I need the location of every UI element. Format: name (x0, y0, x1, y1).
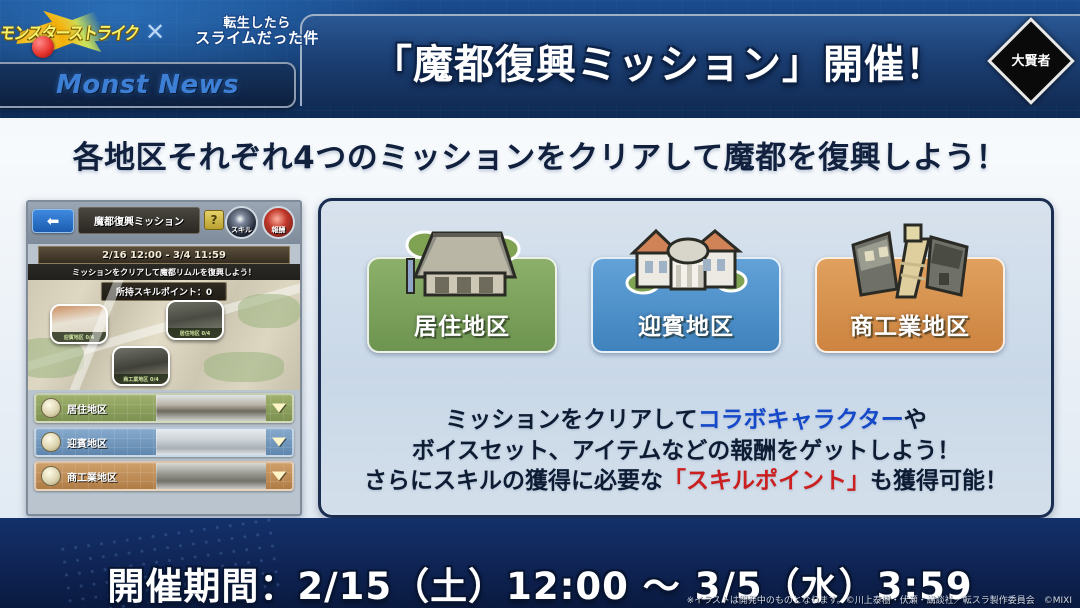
skill-button-label: スキル (231, 225, 252, 235)
desc1-highlight: コラボキャラクター (698, 407, 904, 433)
district-medal-icon (41, 398, 61, 418)
map-pin-commercial[interactable]: 商工業地区 0/4 (112, 346, 170, 386)
district-list: 居住地区 迎賓地区 商工業地区 (28, 390, 300, 491)
district-card-label: 商工業地区 (850, 307, 970, 341)
mansion-icon (621, 215, 751, 301)
reward-button-label: 報酬 (272, 225, 286, 235)
map-greenery (28, 338, 84, 378)
monster-strike-logo-text: モンスターストライク (0, 20, 140, 44)
screenshot-root: モンスターストライク ✕ 転生したら スライムだった件 「魔都復興ミッション」開… (0, 0, 1080, 608)
monst-news-label: Monst News (56, 70, 239, 100)
district-row-label: 迎賓地区 (67, 435, 107, 450)
city-map[interactable]: 所持スキルポイント：0 迎賓地区 0/4 居住地区 0/4 商工業地区 0/4 (28, 280, 300, 390)
district-row-residential[interactable]: 居住地区 (34, 393, 294, 423)
emblem-label: 大賢者 (1003, 33, 1059, 89)
back-arrow-icon[interactable]: ⬅ (32, 209, 74, 233)
description-line-3: さらにスキルの獲得に必要な「スキルポイント」も獲得可能！ (321, 466, 1051, 497)
desc3-highlight: 「スキルポイント」 (663, 468, 870, 494)
district-row-label: 居住地区 (67, 401, 107, 416)
chevron-down-icon[interactable] (272, 438, 286, 447)
district-row-guest[interactable]: 迎賓地区 (34, 427, 294, 457)
district-thumbnail (156, 395, 266, 421)
map-pin-label: 商工業地区 0/4 (114, 374, 168, 384)
chevron-down-icon[interactable] (272, 472, 286, 481)
title-plaque: 「魔都復興ミッション」開催！ 大賢者 (300, 14, 1080, 106)
map-pin-residential[interactable]: 居住地区 0/4 (166, 300, 224, 340)
reward-button[interactable]: 報酬 (262, 206, 295, 239)
page-title: 「魔都復興ミッション」開催！ (372, 32, 946, 90)
district-medal-icon (41, 466, 61, 486)
desc1-c: や (904, 407, 927, 433)
district-card-label: 居住地区 (414, 307, 510, 341)
subtitle-text: 各地区それぞれ4つのミッションをクリアして魔都を復興しよう！ (0, 132, 1080, 177)
game-screenshot-panel: ⬅ 魔都復興ミッション ? スキル 報酬 2/16 12:00 - 3/4 11… (26, 200, 302, 516)
map-pin-label: 迎賓地区 0/4 (52, 332, 106, 342)
monst-news-ribbon: Monst News (0, 62, 296, 108)
content-panel: 居住地区 (318, 198, 1054, 518)
japanese-house-icon (397, 215, 527, 301)
game-description-label: ミッションをクリアして魔都リムルを復興しよう！ (72, 267, 256, 278)
description-line-2: ボイスセット、アイテムなどの報酬をゲットしよう！ (321, 436, 1051, 467)
desc3-c: も獲得可能！ (870, 468, 1008, 494)
district-card-guest[interactable]: 迎賓地区 (591, 257, 781, 353)
page-header: モンスターストライク ✕ 転生したら スライムだった件 「魔都復興ミッション」開… (0, 0, 1080, 118)
game-topbar: ⬅ 魔都復興ミッション ? スキル 報酬 (28, 202, 300, 244)
map-greenery (204, 352, 284, 382)
district-cards: 居住地区 (321, 257, 1051, 353)
district-row-label: 商工業地区 (67, 469, 117, 484)
chevron-down-icon[interactable] (272, 404, 286, 413)
game-title-label: 魔都復興ミッション (94, 213, 184, 228)
desc1-a: ミッションをクリアして (445, 407, 697, 433)
map-pin-guest[interactable]: 迎賓地区 0/4 (50, 304, 108, 344)
slime-anime-logo: 転生したら スライムだった件 (182, 9, 332, 55)
district-medal-icon (41, 432, 61, 452)
shops-street-icon (845, 215, 975, 301)
map-greenery (238, 294, 300, 328)
slime-logo-line2: スライムだった件 (195, 31, 319, 47)
map-pin-label: 居住地区 0/4 (168, 328, 222, 338)
monster-ball-icon (32, 36, 54, 58)
description-line-1: ミッションをクリアしてコラボキャラクターや (321, 405, 1051, 436)
game-title-plate: 魔都復興ミッション (78, 207, 200, 234)
copyright-text: ※イラストは開発中のものとなります。©川上泰樹・伏瀬・講談社／転スラ製作委員会 … (687, 593, 1072, 606)
collab-cross-icon: ✕ (138, 15, 172, 49)
event-date-label: 2/16 12:00 - 3/4 11:59 (102, 250, 226, 261)
desc3-a: さらにスキルの獲得に必要な (364, 468, 663, 494)
event-date-plate: 2/16 12:00 - 3/4 11:59 (38, 246, 290, 264)
district-thumbnail (156, 463, 266, 489)
great-sage-emblem: 大賢者 (987, 17, 1075, 105)
district-card-commercial[interactable]: 商工業地区 (815, 257, 1005, 353)
district-thumbnail (156, 429, 266, 455)
monster-strike-logo: モンスターストライク (10, 8, 128, 56)
skill-points-badge: 所持スキルポイント：0 (101, 282, 227, 301)
content-description: ミッションをクリアしてコラボキャラクターや ボイスセット、アイテムなどの報酬をゲ… (321, 405, 1051, 497)
game-description-bar: ミッションをクリアして魔都リムルを復興しよう！ (28, 264, 300, 280)
district-card-residential[interactable]: 居住地区 (367, 257, 557, 353)
help-button[interactable]: ? (204, 210, 224, 230)
district-row-commercial[interactable]: 商工業地区 (34, 461, 294, 491)
bottom-banner: 開催期間：2/15（土）12:00 ～ 3/5（水）3:59 ※イラストは開発中… (0, 518, 1080, 608)
skill-button[interactable]: スキル (225, 206, 258, 239)
logo-cluster: モンスターストライク ✕ 転生したら スライムだった件 (10, 8, 332, 56)
district-card-label: 迎賓地区 (638, 307, 734, 341)
